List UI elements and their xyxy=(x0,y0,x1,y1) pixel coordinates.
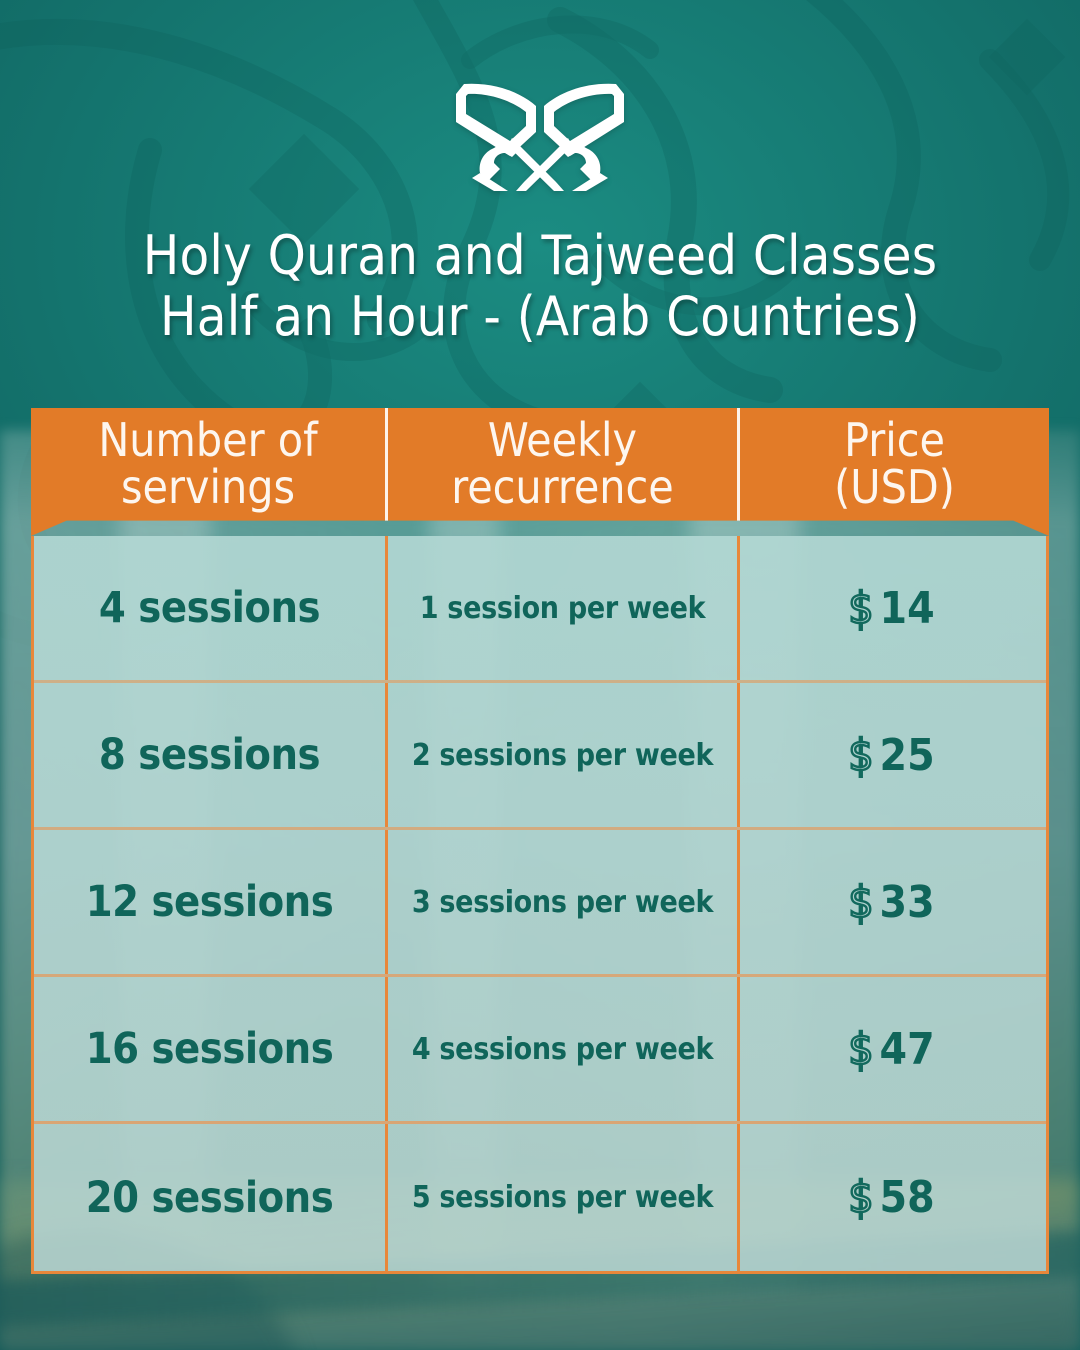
table-row: 20 sessions 5 sessions per week $ 58 xyxy=(34,1124,1046,1271)
cell-price: $ 25 xyxy=(737,683,1043,827)
column-header-servings: Number of servings xyxy=(31,408,385,536)
dollar-sign-icon: $ xyxy=(848,1024,873,1075)
cell-servings: 16 sessions xyxy=(34,977,385,1121)
column-header-recurrence-line2: recurrence xyxy=(451,464,674,511)
table-body: 4 sessions 1 session per week $ 14 8 ses… xyxy=(31,536,1049,1274)
open-quran-book-with-hands-icon xyxy=(450,78,630,193)
price-amount: 58 xyxy=(880,1172,935,1223)
table-row: 12 sessions 3 sessions per week $ 33 xyxy=(34,830,1046,977)
dollar-sign-icon: $ xyxy=(848,730,873,781)
cell-price: $ 33 xyxy=(737,830,1043,974)
column-header-recurrence: Weekly recurrence xyxy=(385,408,737,536)
pricing-table: Number of servings Weekly recurrence Pri… xyxy=(31,408,1049,1274)
cell-servings: 12 sessions xyxy=(34,830,385,974)
cell-price: $ 14 xyxy=(737,536,1043,680)
price-amount: 25 xyxy=(880,730,935,781)
cell-recurrence: 5 sessions per week xyxy=(385,1124,737,1271)
table-row: 16 sessions 4 sessions per week $ 47 xyxy=(34,977,1046,1124)
logo xyxy=(0,78,1080,193)
page-title: Holy Quran and Tajweed Classes Half an H… xyxy=(0,225,1080,347)
cell-recurrence: 2 sessions per week xyxy=(385,683,737,827)
dollar-sign-icon: $ xyxy=(848,583,873,634)
column-header-recurrence-line1: Weekly xyxy=(451,417,674,464)
price-amount: 33 xyxy=(880,877,935,928)
column-header-price-line1: Price xyxy=(834,417,955,464)
dollar-sign-icon: $ xyxy=(848,877,873,928)
cell-recurrence: 1 session per week xyxy=(385,536,737,680)
table-row: 8 sessions 2 sessions per week $ 25 xyxy=(34,683,1046,830)
price-amount: 47 xyxy=(880,1024,935,1075)
title-line-2: Half an Hour - (Arab Countries) xyxy=(0,286,1080,347)
cell-servings: 20 sessions xyxy=(34,1124,385,1271)
cell-price: $ 58 xyxy=(737,1124,1043,1271)
title-line-1: Holy Quran and Tajweed Classes xyxy=(0,225,1080,286)
table-row: 4 sessions 1 session per week $ 14 xyxy=(34,536,1046,683)
cell-servings: 4 sessions xyxy=(34,536,385,680)
cell-price: $ 47 xyxy=(737,977,1043,1121)
cell-recurrence: 3 sessions per week xyxy=(385,830,737,974)
cell-servings: 8 sessions xyxy=(34,683,385,827)
column-header-price-line2: (USD) xyxy=(834,464,955,511)
cell-recurrence: 4 sessions per week xyxy=(385,977,737,1121)
column-header-servings-line1: Number of xyxy=(98,417,317,464)
pricing-poster: Holy Quran and Tajweed Classes Half an H… xyxy=(0,0,1080,1350)
table-header-row: Number of servings Weekly recurrence Pri… xyxy=(31,408,1049,536)
dollar-sign-icon: $ xyxy=(848,1172,873,1223)
column-header-servings-line2: servings xyxy=(98,464,317,511)
price-amount: 14 xyxy=(880,583,935,634)
column-header-price: Price (USD) xyxy=(737,408,1049,536)
